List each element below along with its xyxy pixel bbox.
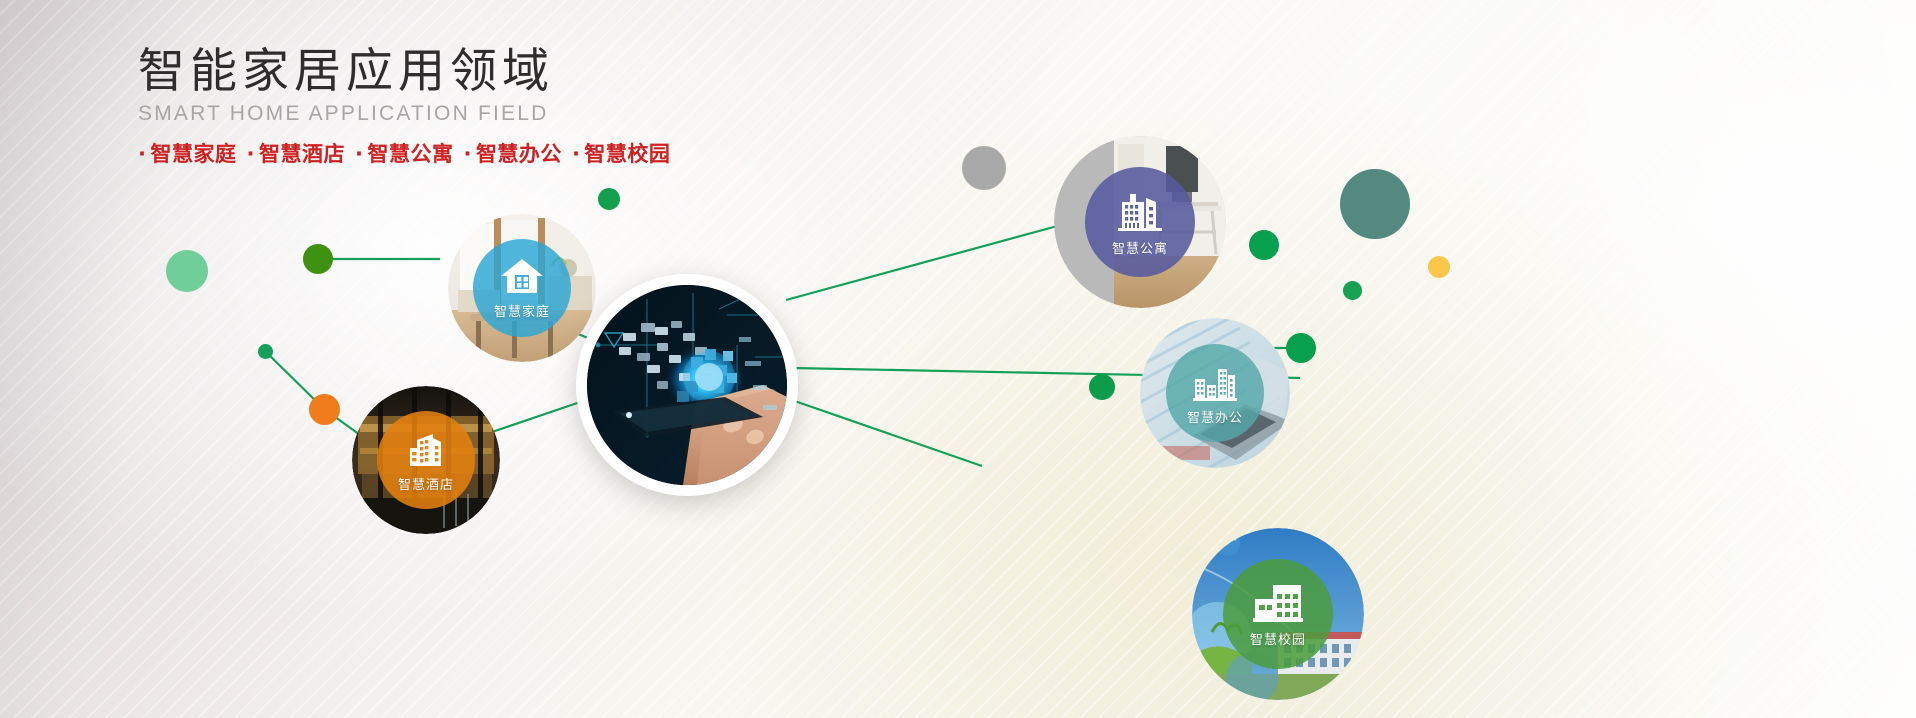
keyword-item-4: 智慧校园 bbox=[584, 142, 670, 166]
hub-tech-photo bbox=[587, 285, 787, 485]
keyword-bullet-3: · bbox=[463, 142, 471, 166]
smart-family-label: 智慧家庭 bbox=[494, 301, 550, 320]
dot-green-hub-right bbox=[1089, 374, 1115, 400]
smart-family-disc[interactable]: 智慧家庭 bbox=[473, 239, 571, 337]
keyword-bullet-4: · bbox=[572, 142, 580, 166]
dot-green-upper bbox=[598, 188, 620, 210]
keyword-bullet-0: · bbox=[138, 142, 146, 166]
house-icon bbox=[499, 257, 545, 297]
hotel-building-icon bbox=[405, 428, 447, 470]
keyword-list: ·智慧家庭·智慧酒店·智慧公寓·智慧办公·智慧校园 bbox=[138, 138, 670, 168]
smart-apartment-disc[interactable]: 智慧公寓 bbox=[1085, 167, 1195, 277]
dot-mint-large bbox=[166, 250, 208, 292]
smart-campus-label: 智慧校园 bbox=[1250, 629, 1306, 648]
node-smart-office[interactable]: 智慧办公 bbox=[1140, 318, 1290, 468]
apartment-building-icon bbox=[1114, 188, 1166, 234]
headline-block: 智能家居应用领域 SMART HOME APPLICATION FIELD ·智… bbox=[138, 44, 670, 168]
smart-campus-disc[interactable]: 智慧校园 bbox=[1223, 559, 1333, 669]
node-smart-hotel[interactable]: 智慧酒店 bbox=[352, 386, 500, 534]
dot-teal-large bbox=[1340, 169, 1410, 239]
page-subtitle-en: SMART HOME APPLICATION FIELD bbox=[138, 102, 670, 126]
dot-green-small bbox=[258, 344, 273, 359]
keyword-item-2: 智慧公寓 bbox=[367, 142, 453, 166]
central-hub[interactable] bbox=[576, 274, 798, 496]
keyword-bullet-1: · bbox=[246, 142, 254, 166]
keyword-item-3: 智慧办公 bbox=[476, 142, 562, 166]
dot-orange bbox=[309, 394, 340, 425]
keyword-bullet-2: · bbox=[355, 142, 363, 166]
smart-hotel-label: 智慧酒店 bbox=[398, 474, 454, 493]
edge-hub-to-apartment bbox=[786, 222, 1072, 300]
smart-hotel-disc[interactable]: 智慧酒店 bbox=[377, 411, 475, 509]
school-building-icon bbox=[1251, 581, 1305, 625]
smart-apartment-label: 智慧公寓 bbox=[1112, 238, 1168, 257]
smart-office-label: 智慧办公 bbox=[1187, 407, 1243, 426]
node-smart-apartment[interactable]: 智慧公寓 bbox=[1054, 136, 1226, 308]
hub-image-wrap bbox=[587, 285, 787, 485]
node-smart-family[interactable]: 智慧家庭 bbox=[448, 214, 596, 362]
dot-green-tiny bbox=[1343, 281, 1362, 300]
page-title: 智能家居应用领域 bbox=[138, 44, 670, 99]
edge-hub-to-campus bbox=[786, 398, 982, 466]
dot-gray-top bbox=[962, 146, 1006, 190]
dot-green-right bbox=[1249, 230, 1279, 260]
keyword-item-1: 智慧酒店 bbox=[259, 142, 345, 166]
dot-yellow-right bbox=[1428, 256, 1450, 278]
dot-green-office bbox=[1286, 333, 1316, 363]
node-smart-campus[interactable]: 智慧校园 bbox=[1192, 528, 1364, 700]
office-towers-icon bbox=[1191, 361, 1239, 403]
banner-stage: 智能家居应用领域 SMART HOME APPLICATION FIELD ·智… bbox=[0, 0, 1916, 718]
dot-green-link bbox=[303, 244, 333, 274]
keyword-item-0: 智慧家庭 bbox=[150, 142, 236, 166]
smart-office-disc[interactable]: 智慧办公 bbox=[1166, 344, 1264, 442]
